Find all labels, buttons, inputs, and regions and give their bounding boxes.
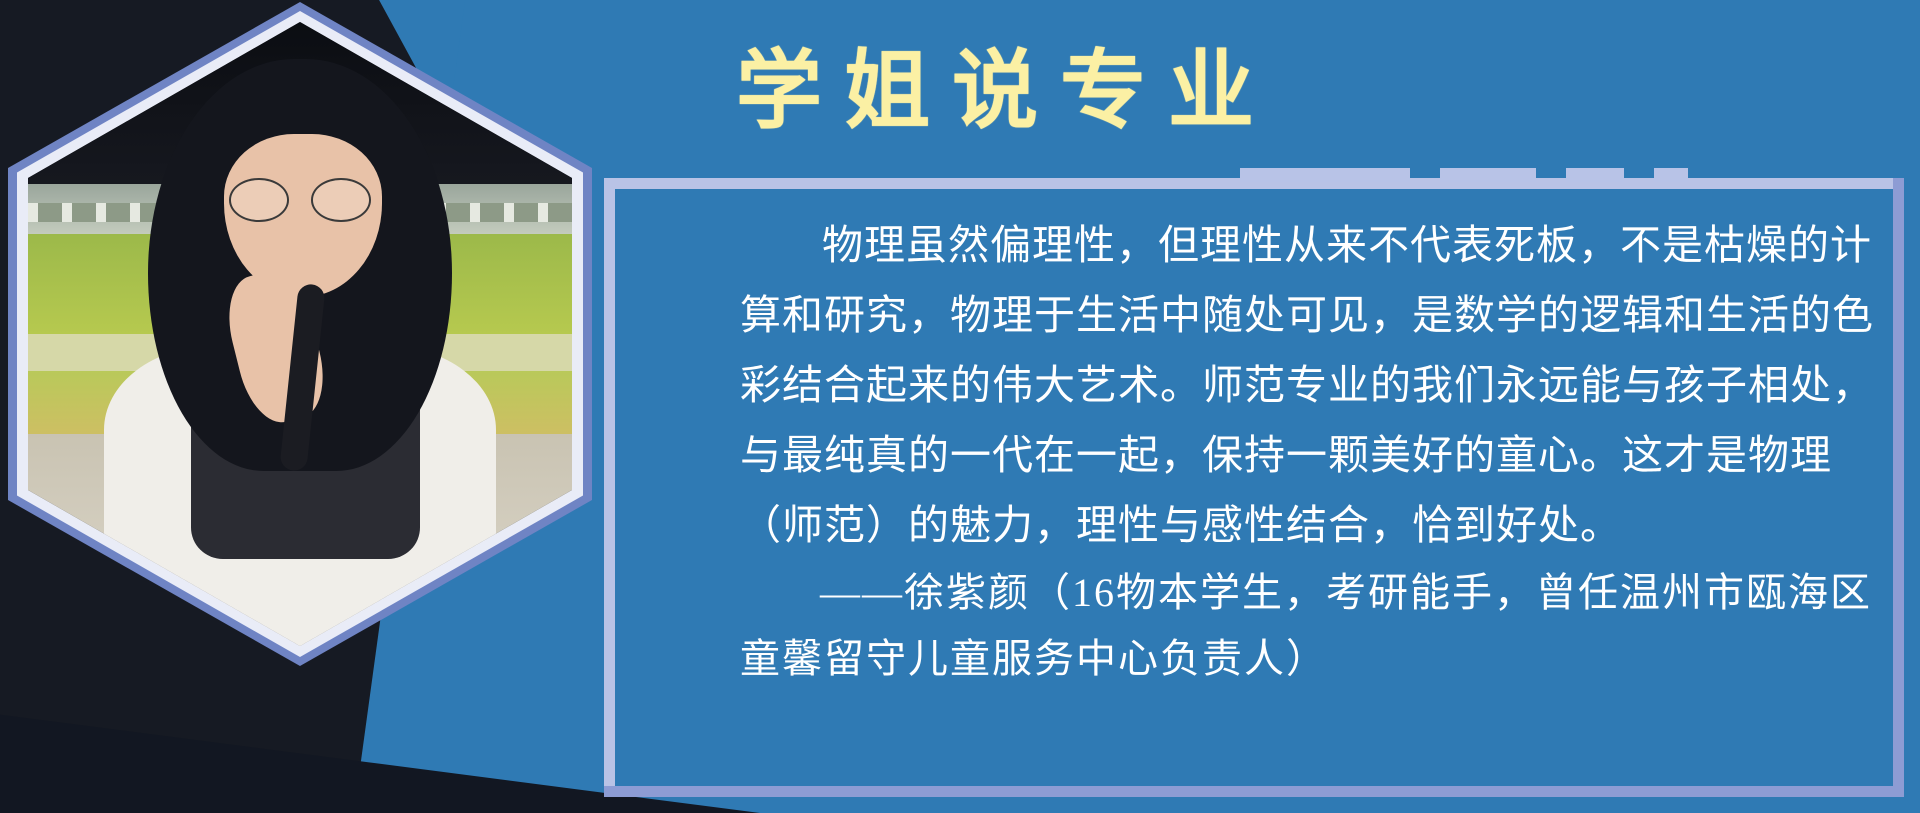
portrait-hexagon <box>8 2 592 666</box>
dash-rule <box>1240 168 1688 182</box>
panel-frame-right <box>1893 178 1904 797</box>
dash-long <box>1240 168 1410 182</box>
poster-headline: 学姐说专业 <box>736 48 1276 134</box>
poster-stage: 学姐说专业 物理虽然偏理性，但理性从来不代表死板，不是枯燥的计算和研究，物理于生… <box>0 0 1920 813</box>
photo-glasses-right <box>311 178 371 222</box>
panel-frame-left <box>604 178 615 797</box>
attribution-line-2: 童馨留守儿童服务中心负责人） <box>740 626 1892 692</box>
panel-frame-bottom <box>604 786 1904 797</box>
dash-medium <box>1440 168 1536 182</box>
dash-tiny <box>1654 168 1688 182</box>
body-copy: 物理虽然偏理性，但理性从来不代表死板，不是枯燥的计算和研究，物理于生活中随处可见… <box>740 210 1892 560</box>
body-paragraph: 物理虽然偏理性，但理性从来不代表死板，不是枯燥的计算和研究，物理于生活中随处可见… <box>740 210 1892 560</box>
attribution-line-1: ——徐紫颜（16物本学生，考研能手，曾任温州市瓯海区 <box>740 560 1892 626</box>
attribution-block: ——徐紫颜（16物本学生，考研能手，曾任温州市瓯海区 童馨留守儿童服务中心负责人… <box>740 560 1892 692</box>
dash-short <box>1566 168 1624 182</box>
photo-glasses-left <box>229 178 289 222</box>
